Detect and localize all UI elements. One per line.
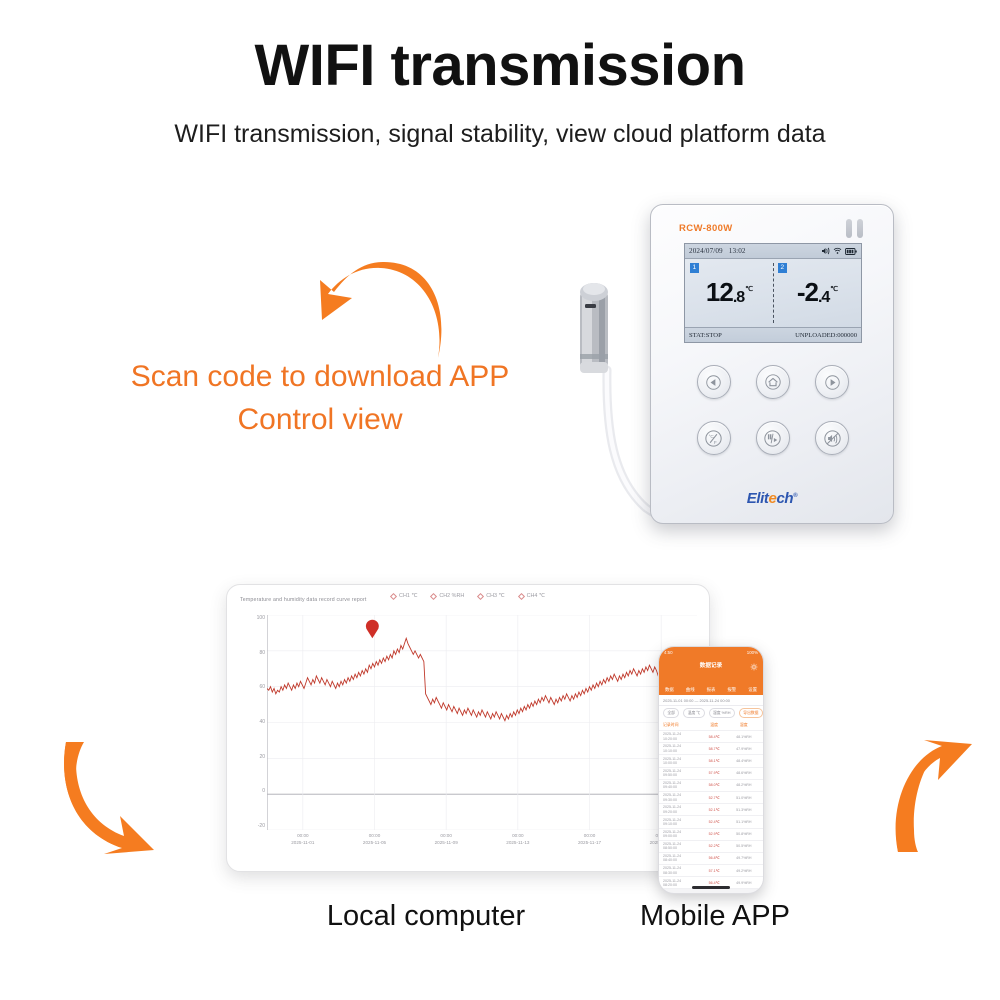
lcd-channel-1-reading: 12 .8 ℃ [706, 281, 752, 305]
chart-y-axis-labels: 100806040200-20 [241, 615, 265, 829]
triangle-right-icon [825, 375, 840, 390]
arrow-to-device-icon [318, 262, 446, 362]
phone-status-bar: 4:50 100% [659, 647, 763, 658]
lcd-channel-1-tag: 1 [690, 263, 699, 273]
device-model-label: RCW-800W [679, 223, 733, 234]
phone-cell-humidity: 49.9%RH [728, 881, 763, 885]
scan-callout-line2: Control view [60, 399, 580, 442]
chart-annotation-balloon [366, 620, 379, 639]
celsius-fahrenheit-icon: °C F [705, 430, 722, 447]
phone-filter-chip[interactable]: 全部 [663, 708, 679, 718]
legend-item[interactable]: CH4 ℃ [519, 593, 545, 599]
phone-cell-temp: 52.7℃ [701, 796, 728, 800]
phone-cell-temp: 57.9℃ [701, 771, 728, 775]
phone-filter-chip[interactable]: 温度 ℃ [683, 708, 704, 718]
phone-cell-temp: 58.0℃ [701, 783, 728, 787]
lcd-time: 13:02 [729, 247, 746, 255]
chart-y-tick: 80 [259, 650, 265, 656]
phone-tab[interactable]: 数据 [665, 687, 674, 693]
legend-label: CH2 %RH [439, 593, 464, 599]
phone-nav-title: 数据记录 [659, 658, 763, 669]
phone-cell-temp: 58.1℃ [701, 759, 728, 763]
led-indicator-1 [846, 219, 852, 238]
phone-cell-humidity: 47.9%RH [728, 747, 763, 751]
phone-table-row[interactable]: 2025-11-2408:50:0052.2℃50.5%RH [659, 841, 763, 853]
phone-date-range-text: 2025-11-01 00:00 — 2025-11-24 00:00 [663, 698, 730, 703]
phone-cell-humidity: 48.6%RH [728, 771, 763, 775]
phone-table-row[interactable]: 2025-11-2409:40:0058.0℃48.2%RH [659, 780, 763, 792]
phone-cell-humidity: 51.0%RH [728, 796, 763, 800]
chart-x-tick: 00:002025-11-17 [554, 833, 626, 859]
lcd-channel-2-tag: 2 [778, 263, 787, 273]
phone-tab[interactable]: 曲线 [686, 687, 695, 693]
lcd-status-bar: 2024/07/09 13:02 [685, 244, 861, 259]
phone-cell-time: 2025-11-2410:00:00 [659, 757, 701, 766]
lcd-date: 2024/07/09 [689, 247, 723, 255]
phone-cell-time: 2025-11-2409:40:00 [659, 781, 701, 790]
phone-cell-time: 2025-11-2410:10:00 [659, 744, 701, 753]
chart-x-tick: 00:002025-11-13 [482, 833, 554, 859]
lcd-channel-1-integer: 12 [706, 281, 733, 305]
chart-y-tick: 0 [262, 788, 265, 794]
led-indicator-2 [857, 219, 863, 238]
caption-mobile-app: Mobile APP [600, 900, 830, 933]
phone-table-row[interactable]: 2025-11-2410:20:0058.4℃48.1%RH [659, 731, 763, 743]
phone-cell-humidity: 48.1%RH [728, 735, 763, 739]
lcd-channel-2: 2 -2 .4 ℃ [773, 259, 861, 327]
mobile-phone: 4:50 100% 数据记录 数据曲线报表报警设置 2025-11-01 00:… [658, 646, 764, 894]
phone-cell-humidity: 51.1%RH [728, 820, 763, 824]
lcd-channel-2-integer: -2 [797, 281, 818, 305]
phone-tab[interactable]: 报警 [727, 687, 736, 693]
legend-item[interactable]: CH1 ℃ [391, 593, 417, 599]
brand-part2: ch [776, 490, 793, 507]
lcd-footer-bar: STAT:STOP UNPLOADED:000000 [685, 327, 861, 342]
chart-plot-area [267, 615, 697, 830]
lcd-datetime: 2024/07/09 13:02 [689, 247, 746, 255]
chart-x-axis-labels: 00:002025-11-0100:002025-11-0500:002025-… [267, 833, 697, 859]
phone-cell-humidity: 49.2%RH [728, 869, 763, 873]
legend-marker-icon [518, 592, 525, 599]
page-subtitle: WIFI transmission, signal stability, vie… [0, 120, 1000, 149]
phone-cell-time: 2025-11-2409:20:00 [659, 805, 701, 814]
lcd-status-label: STAT:STOP [689, 332, 722, 339]
phone-table-row[interactable]: 2025-11-2410:10:0058.7℃47.9%RH [659, 743, 763, 755]
device-keypad: °C F [684, 365, 862, 455]
phone-col-time: 记录时间 [659, 723, 701, 728]
brand-registered-mark: ® [793, 493, 797, 499]
home-icon [765, 374, 781, 390]
prev-button[interactable] [697, 365, 731, 399]
phone-cell-temp: 58.4℃ [701, 735, 728, 739]
phone-cell-temp: 52.9℃ [701, 832, 728, 836]
lcd-screen: 2024/07/09 13:02 [684, 243, 862, 343]
legend-item[interactable]: CH2 %RH [431, 593, 464, 599]
lcd-channel-1: 1 12 .8 ℃ [685, 259, 773, 327]
phone-table-body: 2025-11-2410:20:0058.4℃48.1%RH2025-11-24… [659, 731, 763, 889]
caption-local-computer: Local computer [286, 900, 566, 933]
chart-y-tick: 40 [259, 719, 265, 725]
triangle-left-icon [706, 375, 721, 390]
scan-callout-line1: Scan code to download APP [60, 356, 580, 399]
legend-marker-icon [390, 592, 397, 599]
page-title: WIFI transmission [0, 32, 1000, 99]
phone-cell-temp: 56.4℃ [701, 881, 728, 885]
phone-filter-chip[interactable]: 湿度 %RH [709, 708, 735, 718]
phone-table-header: 记录时间 温度 湿度 [659, 720, 763, 731]
lcd-channel-2-fraction: .4 [818, 290, 829, 305]
phone-data-table: 记录时间 温度 湿度 2025-11-2410:20:0058.4℃48.1%R… [659, 720, 763, 889]
phone-cell-humidity: 51.3%RH [728, 808, 763, 812]
phone-cell-time: 2025-11-2409:00:00 [659, 830, 701, 839]
phone-cell-time: 2025-11-2408:50:00 [659, 842, 701, 851]
gear-icon[interactable] [750, 663, 758, 671]
lcd-channel-2-reading: -2 .4 ℃ [797, 281, 837, 305]
chart-annotation-marker[interactable] [366, 620, 379, 639]
speaker-icon [821, 247, 830, 255]
legend-marker-icon [430, 592, 437, 599]
phone-table-row[interactable]: 2025-11-2409:10:0052.4℃51.1%RH [659, 816, 763, 828]
phone-cell-temp: 52.4℃ [701, 820, 728, 824]
svg-text:F: F [714, 439, 717, 444]
phone-table-row[interactable]: 2025-11-2409:00:0052.9℃50.8%RH [659, 829, 763, 841]
phone-col-hum: 湿度 [728, 722, 763, 728]
unit-toggle-button[interactable]: °C F [697, 421, 731, 455]
phone-cell-temp: 52.2℃ [701, 844, 728, 848]
arrow-to-mobile-app-icon [888, 734, 1000, 856]
legend-label: CH4 ℃ [527, 593, 545, 599]
lcd-channel-2-unit: ℃ [830, 281, 837, 293]
phone-cell-humidity: 49.7%RH [728, 856, 763, 860]
phone-home-indicator [692, 886, 730, 889]
lcd-icon-group [821, 247, 857, 255]
phone-battery-text: 100% [747, 650, 758, 655]
phone-cell-time: 2025-11-2409:50:00 [659, 769, 701, 778]
phone-cell-temp: 56.8℃ [701, 856, 728, 860]
next-button[interactable] [815, 365, 849, 399]
phone-clock: 4:50 [664, 650, 673, 655]
legend-label: CH3 ℃ [486, 593, 504, 599]
phone-cell-temp: 58.7℃ [701, 747, 728, 751]
brand-logo: Elitech® [651, 490, 893, 507]
legend-marker-icon [477, 592, 484, 599]
chart-legend: CH1 ℃ CH2 %RH CH3 ℃ CH4 ℃ [227, 593, 709, 599]
chart-y-tick: -20 [258, 823, 265, 829]
start-stop-button[interactable] [756, 421, 790, 455]
arrow-to-local-computer-icon [58, 736, 176, 856]
phone-table-row[interactable]: 2025-11-2409:50:0057.9℃48.6%RH [659, 768, 763, 780]
phone-table-row[interactable]: 2025-11-2409:20:0052.1℃51.3%RH [659, 804, 763, 816]
lcd-channel-1-unit: ℃ [745, 281, 752, 293]
led-indicator-bar [846, 219, 863, 238]
phone-app-header: 4:50 100% 数据记录 数据曲线报表报警设置 [659, 647, 763, 695]
legend-item[interactable]: CH3 ℃ [478, 593, 504, 599]
chart-x-tick: 00:002025-11-01 [267, 833, 339, 859]
legend-label: CH1 ℃ [399, 593, 417, 599]
chart-x-tick: 00:002025-11-05 [339, 833, 411, 859]
phone-cell-time: 2025-11-2409:30:00 [659, 793, 701, 802]
home-button[interactable] [756, 365, 790, 399]
phone-cell-humidity: 48.4%RH [728, 759, 763, 763]
phone-table-row[interactable]: 2025-11-2408:30:0057.1℃49.2%RH [659, 865, 763, 877]
phone-date-range-filter[interactable]: 2025-11-01 00:00 — 2025-11-24 00:00 [659, 695, 763, 706]
brand-part1: Elit [747, 490, 769, 507]
probe-tip [580, 283, 608, 373]
battery-icon [845, 248, 857, 255]
svg-text:°C: °C [709, 433, 715, 438]
mute-button[interactable] [815, 421, 849, 455]
phone-cell-time: 2025-11-2408:40:00 [659, 854, 701, 863]
chart-y-tick: 100 [257, 615, 265, 621]
chart-y-tick: 20 [259, 754, 265, 760]
chart-y-tick: 60 [259, 684, 265, 690]
phone-cell-time: 2025-11-2410:20:00 [659, 732, 701, 741]
phone-tab-bar: 数据曲线报表报警设置 [659, 687, 763, 693]
phone-cell-humidity: 50.5%RH [728, 844, 763, 848]
phone-cell-temp: 52.1℃ [701, 808, 728, 812]
scan-callout-text: Scan code to download APP Control view [60, 356, 580, 441]
phone-cell-humidity: 48.2%RH [728, 783, 763, 787]
phone-cell-time: 2025-11-2409:10:00 [659, 818, 701, 827]
phone-cell-humidity: 50.8%RH [728, 832, 763, 836]
phone-cell-temp: 57.1℃ [701, 869, 728, 873]
phone-table-row[interactable]: 2025-11-2410:00:0058.1℃48.4%RH [659, 755, 763, 767]
wifi-icon [833, 247, 842, 255]
phone-tab[interactable]: 报表 [707, 687, 716, 693]
chart-x-tick: 00:002025-11-09 [410, 833, 482, 859]
lcd-readings-area: 1 12 .8 ℃ 2 -2 .4 ℃ [685, 259, 861, 327]
phone-col-temp: 温度 [701, 722, 728, 728]
lcd-channel-1-fraction: .8 [733, 290, 744, 305]
data-logger-device: RCW-800W 2024/07/09 13:02 [650, 204, 894, 524]
pc-software-window: Temperature and humidity data record cur… [226, 584, 710, 872]
phone-cell-time: 2025-11-2408:30:00 [659, 866, 701, 875]
speaker-mute-icon [824, 430, 841, 447]
phone-table-row[interactable]: 2025-11-2408:40:0056.8℃49.7%RH [659, 853, 763, 865]
phone-filter-chip[interactable]: 导出数据 [739, 708, 763, 718]
pause-play-icon [764, 430, 781, 447]
lcd-unploaded-label: UNPLOADED:000000 [795, 332, 857, 339]
phone-tab[interactable]: 设置 [748, 687, 757, 693]
phone-filter-chips: 全部温度 ℃湿度 %RH导出数据 [659, 706, 763, 720]
phone-table-row[interactable]: 2025-11-2409:30:0052.7℃51.0%RH [659, 792, 763, 804]
